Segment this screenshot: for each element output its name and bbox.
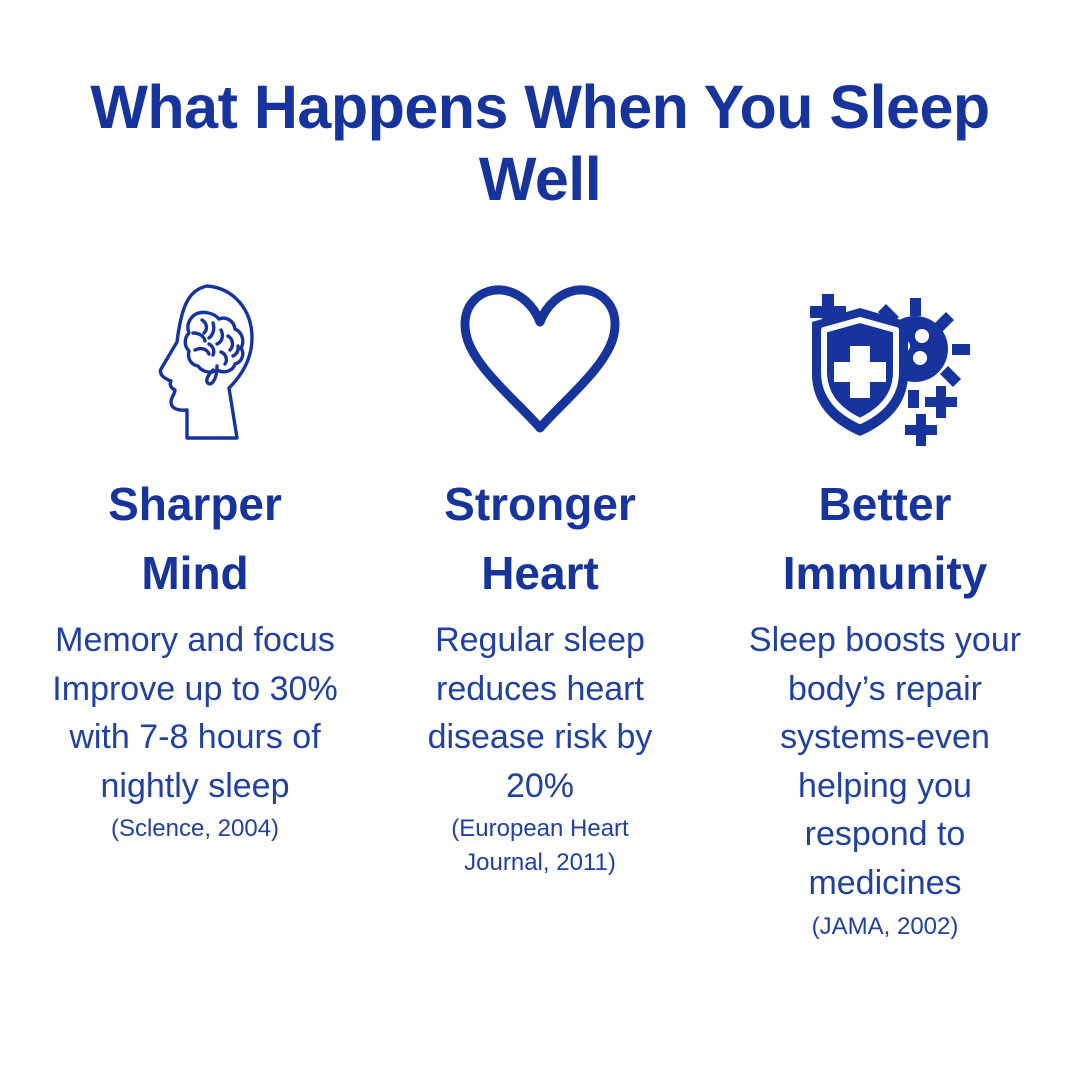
benefit-columns: Sharper Mind Memory and focus Improve up… (30, 278, 1050, 943)
shield-virus-icon (800, 278, 970, 446)
heart-icon (452, 278, 628, 446)
benefit-citation: (Sclence, 2004) (40, 812, 350, 846)
benefit-card-stronger-heart: Stronger Heart Regular sleep reduces hea… (375, 278, 705, 880)
page-title: What Happens When You Sleep Well (90, 72, 990, 216)
benefit-heading: Sharper Mind (70, 470, 320, 608)
benefit-body: Regular sleep reduces heart disease risk… (408, 616, 673, 810)
infographic-poster: What Happens When You Sleep Well (0, 0, 1080, 1080)
benefit-citation: (JAMA, 2002) (730, 910, 1040, 944)
benefit-body: Memory and focus Improve up to 30% with … (35, 616, 355, 810)
head-brain-icon (125, 278, 265, 446)
benefit-body: Sleep boosts your body’s repair systems-… (735, 616, 1035, 908)
benefit-card-sharper-mind: Sharper Mind Memory and focus Improve up… (30, 278, 360, 846)
benefit-citation: (European Heart Journal, 2011) (408, 812, 673, 879)
benefit-heading: Stronger Heart (415, 470, 665, 608)
benefit-card-better-immunity: Better Immunity Sleep boosts your body’s… (720, 278, 1050, 943)
benefit-heading: Better Immunity (760, 470, 1010, 608)
